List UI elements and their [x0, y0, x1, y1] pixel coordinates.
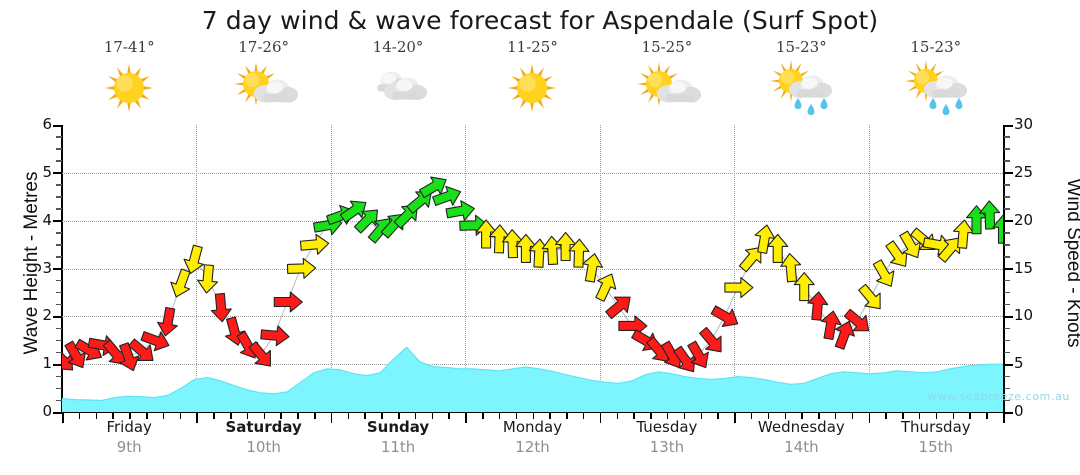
day-header-friday: 17-41° — [62, 38, 196, 123]
day-footer-sunday: Sunday11th — [331, 418, 465, 457]
right-tickmark-0 — [1004, 412, 1013, 414]
forecast-plot-area — [62, 125, 1003, 412]
right-minor-tick — [1004, 160, 1010, 162]
right-minor-tick — [1004, 232, 1010, 234]
wave-height-fill — [62, 347, 1003, 412]
right-tickmark-15 — [1004, 268, 1013, 270]
left-tickmark-4 — [53, 220, 62, 222]
x-tickmark — [986, 413, 988, 419]
x-tickmark — [264, 413, 266, 419]
x-tickmark — [751, 413, 753, 419]
x-tickmark — [549, 413, 551, 419]
day-date: 13th — [600, 437, 734, 457]
day-footer-thursday: Thursday15th — [869, 418, 1003, 457]
day-temperature-range: 17-41° — [62, 38, 196, 56]
left-minor-tick — [56, 376, 62, 378]
left-minor-tick — [56, 328, 62, 330]
left-minor-tick — [56, 160, 62, 162]
x-tickmark — [230, 413, 232, 419]
x-tickmark — [146, 413, 148, 419]
x-tickmark — [112, 413, 114, 419]
x-tickmark — [734, 413, 736, 423]
day-temperature-range: 15-23° — [734, 38, 868, 56]
right-minor-tick — [1004, 376, 1010, 378]
right-tick-30: 30 — [1014, 115, 1054, 133]
left-tick-0: 0 — [12, 402, 52, 420]
left-tickmark-2 — [53, 316, 62, 318]
left-minor-tick — [56, 232, 62, 234]
day-footer-friday: Friday9th — [62, 418, 196, 457]
x-tickmark — [818, 413, 820, 419]
sunny-icon — [94, 60, 164, 116]
x-tickmark — [902, 413, 904, 419]
day-header-wednesday: 15-23° — [734, 38, 868, 123]
x-tickmark — [482, 413, 484, 419]
x-tickmark — [953, 413, 955, 419]
day-name: Saturday — [196, 418, 330, 437]
x-tickmark — [280, 413, 282, 419]
x-tickmark — [79, 413, 81, 419]
right-tick-0: 0 — [1014, 402, 1054, 420]
day-name: Wednesday — [734, 418, 868, 437]
day-name: Tuesday — [600, 418, 734, 437]
left-minor-tick — [56, 400, 62, 402]
x-tickmark — [398, 413, 400, 419]
right-tickmark-5 — [1004, 364, 1013, 366]
x-tickmark — [600, 413, 602, 423]
left-tickmark-3 — [53, 268, 62, 270]
right-minor-tick — [1004, 196, 1010, 198]
watermark: www.seabreeze.com.au — [928, 390, 1070, 403]
x-tickmark — [667, 413, 669, 419]
x-tickmark — [448, 413, 450, 419]
x-tickmark — [499, 413, 501, 419]
day-header-tuesday: 15-25° — [600, 38, 734, 123]
day-temperature-range: 14-20° — [331, 38, 465, 56]
x-tickmark — [785, 413, 787, 419]
left-tick-2: 2 — [12, 306, 52, 324]
x-tickmark — [701, 413, 703, 419]
day-date: 15th — [869, 437, 1003, 457]
day-temperature-range: 17-26° — [196, 38, 330, 56]
right-minor-tick — [1004, 280, 1010, 282]
right-tickmark-30 — [1004, 125, 1013, 127]
day-footer-tuesday: Tuesday13th — [600, 418, 734, 457]
day-header-sunday: 14-20° — [331, 38, 465, 123]
right-minor-tick — [1004, 136, 1010, 138]
left-tickmark-0 — [53, 412, 62, 414]
left-minor-tick — [56, 388, 62, 390]
x-tickmark — [717, 413, 719, 419]
right-minor-tick — [1004, 256, 1010, 258]
day-name: Thursday — [869, 418, 1003, 437]
x-tickmark — [852, 413, 854, 419]
right-minor-tick — [1004, 400, 1010, 402]
day-footer-saturday: Saturday10th — [196, 418, 330, 457]
left-minor-tick — [56, 256, 62, 258]
x-tickmark — [684, 413, 686, 419]
day-date: 9th — [62, 437, 196, 457]
left-minor-tick — [56, 292, 62, 294]
x-tickmark — [314, 413, 316, 419]
x-tickmark — [331, 413, 333, 423]
day-footer-wednesday: Wednesday14th — [734, 418, 868, 457]
x-tickmark — [96, 413, 98, 419]
x-tickmark — [180, 413, 182, 419]
x-tickmark — [650, 413, 652, 419]
day-header-saturday: 17-26° — [196, 38, 330, 123]
left-minor-tick — [56, 352, 62, 354]
left-tick-5: 5 — [12, 163, 52, 181]
partly-cloudy-icon — [229, 60, 299, 116]
x-tickmark — [919, 413, 921, 419]
x-tickmark — [213, 413, 215, 419]
day-header-strip: 17-41°17-26° 14-20° 11-25°15-25° 15-23° — [62, 38, 1003, 123]
day-temperature-range: 15-25° — [600, 38, 734, 56]
x-tickmark — [415, 413, 417, 419]
x-tickmark — [801, 413, 803, 419]
day-date: 10th — [196, 437, 330, 457]
x-tickmark — [633, 413, 635, 419]
right-tick-15: 15 — [1014, 259, 1054, 277]
left-minor-tick — [56, 244, 62, 246]
right-tick-20: 20 — [1014, 211, 1054, 229]
x-tickmark — [465, 413, 467, 423]
right-minor-tick — [1004, 340, 1010, 342]
right-tickmark-20 — [1004, 220, 1013, 222]
right-axis-title: Wind Speed - Knots — [1062, 113, 1080, 413]
right-minor-tick — [1004, 292, 1010, 294]
day-temperature-range: 15-23° — [869, 38, 1003, 56]
x-tickmark — [381, 413, 383, 419]
right-minor-tick — [1004, 328, 1010, 330]
right-minor-tick — [1004, 388, 1010, 390]
page-title: 7 day wind & wave forecast for Aspendale… — [0, 6, 1080, 35]
x-tickmark — [196, 413, 198, 423]
day-header-thursday: 15-23° — [869, 38, 1003, 123]
right-minor-tick — [1004, 244, 1010, 246]
x-tickmark — [617, 413, 619, 419]
partly-cloudy-icon — [632, 60, 702, 116]
partly-cloudy-rain-icon — [766, 60, 836, 116]
day-name: Monday — [465, 418, 599, 437]
day-date: 12th — [465, 437, 599, 457]
right-minor-tick — [1004, 184, 1010, 186]
left-minor-tick — [56, 340, 62, 342]
x-tickmark — [936, 413, 938, 419]
x-tickmark — [297, 413, 299, 419]
x-tickmark — [364, 413, 366, 419]
day-temperature-range: 11-25° — [465, 38, 599, 56]
day-name: Sunday — [331, 418, 465, 437]
x-tickmark — [62, 413, 64, 423]
day-header-monday: 11-25° — [465, 38, 599, 123]
x-tickmark — [163, 413, 165, 419]
x-tickmark — [969, 413, 971, 419]
x-tickmark — [566, 413, 568, 419]
left-minor-tick — [56, 280, 62, 282]
x-tickmark — [247, 413, 249, 419]
left-minor-tick — [56, 208, 62, 210]
left-tick-1: 1 — [12, 354, 52, 372]
left-minor-tick — [56, 148, 62, 150]
right-minor-tick — [1004, 208, 1010, 210]
left-tick-3: 3 — [12, 259, 52, 277]
x-tickmark — [885, 413, 887, 419]
left-tickmark-5 — [53, 172, 62, 174]
x-tickmark — [533, 413, 535, 419]
day-date: 11th — [331, 437, 465, 457]
day-name: Friday — [62, 418, 196, 437]
right-tick-10: 10 — [1014, 306, 1054, 324]
left-minor-tick — [56, 304, 62, 306]
partly-cloudy-rain-icon — [901, 60, 971, 116]
right-minor-tick — [1004, 352, 1010, 354]
left-minor-tick — [56, 196, 62, 198]
x-tickmark — [869, 413, 871, 423]
left-tick-4: 4 — [12, 211, 52, 229]
x-tickmark — [768, 413, 770, 419]
left-minor-tick — [56, 136, 62, 138]
right-tickmark-25 — [1004, 172, 1013, 174]
x-tickmark — [432, 413, 434, 419]
day-footer-monday: Monday12th — [465, 418, 599, 457]
day-date: 14th — [734, 437, 868, 457]
x-tickmark — [129, 413, 131, 419]
right-tick-25: 25 — [1014, 163, 1054, 181]
wave-height-area — [62, 125, 1003, 412]
day-footer-strip: Friday9thSaturday10thSunday11thMonday12t… — [62, 418, 1003, 468]
x-tickmark — [1003, 413, 1005, 423]
left-tickmark-6 — [53, 125, 62, 127]
cloudy-icon — [363, 60, 433, 116]
left-minor-tick — [56, 184, 62, 186]
left-tickmark-1 — [53, 364, 62, 366]
x-tickmark — [835, 413, 837, 419]
right-tick-5: 5 — [1014, 354, 1054, 372]
right-minor-tick — [1004, 304, 1010, 306]
right-tickmark-10 — [1004, 316, 1013, 318]
x-tickmark — [516, 413, 518, 419]
left-tick-6: 6 — [12, 115, 52, 133]
x-tickmark — [348, 413, 350, 419]
x-tickmark — [583, 413, 585, 419]
right-minor-tick — [1004, 148, 1010, 150]
sunny-icon — [497, 60, 567, 116]
